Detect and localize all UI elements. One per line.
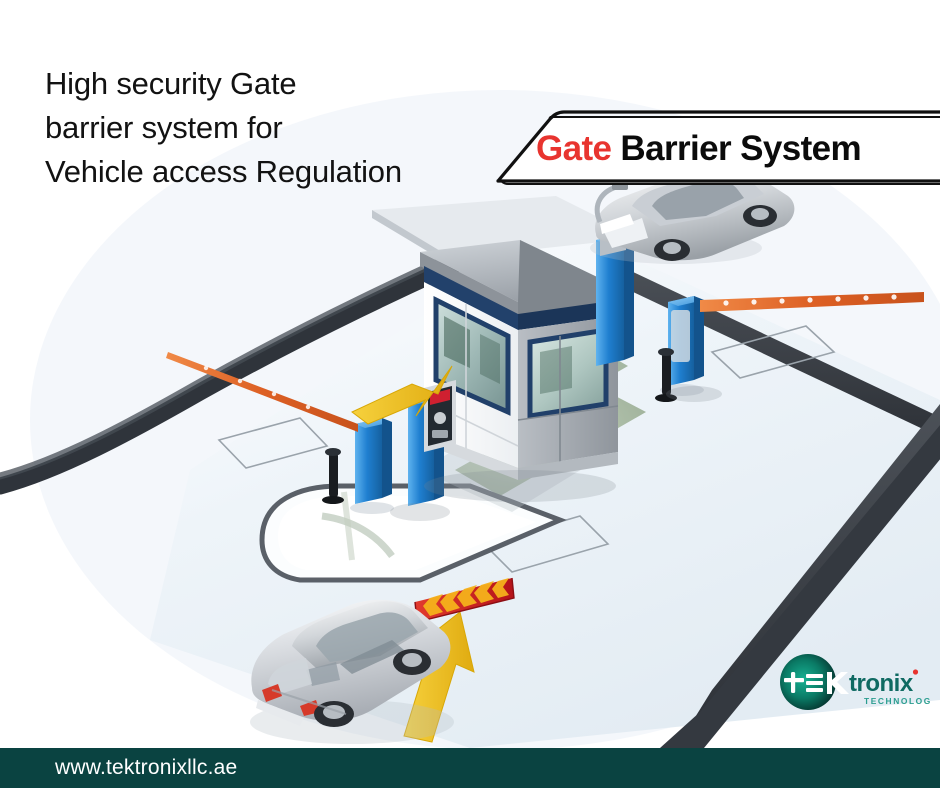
banner-title-accent: Gate — [536, 129, 611, 169]
website-url[interactable]: www.tektronixllc.ae — [55, 756, 237, 780]
exit-pedestal — [366, 441, 388, 505]
page-headline: High security Gate barrier system for Ve… — [45, 62, 475, 194]
logo-svg: tronix TECHNOLOGIES — [772, 652, 932, 714]
logo-wordmark: tronix — [849, 670, 914, 697]
tektronix-logo[interactable]: tronix TECHNOLOGIES — [772, 652, 932, 714]
logo-mark-tek — [784, 672, 849, 694]
poster-canvas: High security Gate barrier system for Ve… — [0, 0, 940, 788]
banner-title-rest: Barrier System — [620, 129, 861, 169]
title-banner-text: Gate Barrier System — [498, 116, 940, 181]
footer-bar: www.tektronixllc.ae — [0, 748, 940, 788]
logo-tagline: TECHNOLOGIES — [864, 696, 932, 706]
logo-dot-icon — [913, 669, 918, 674]
